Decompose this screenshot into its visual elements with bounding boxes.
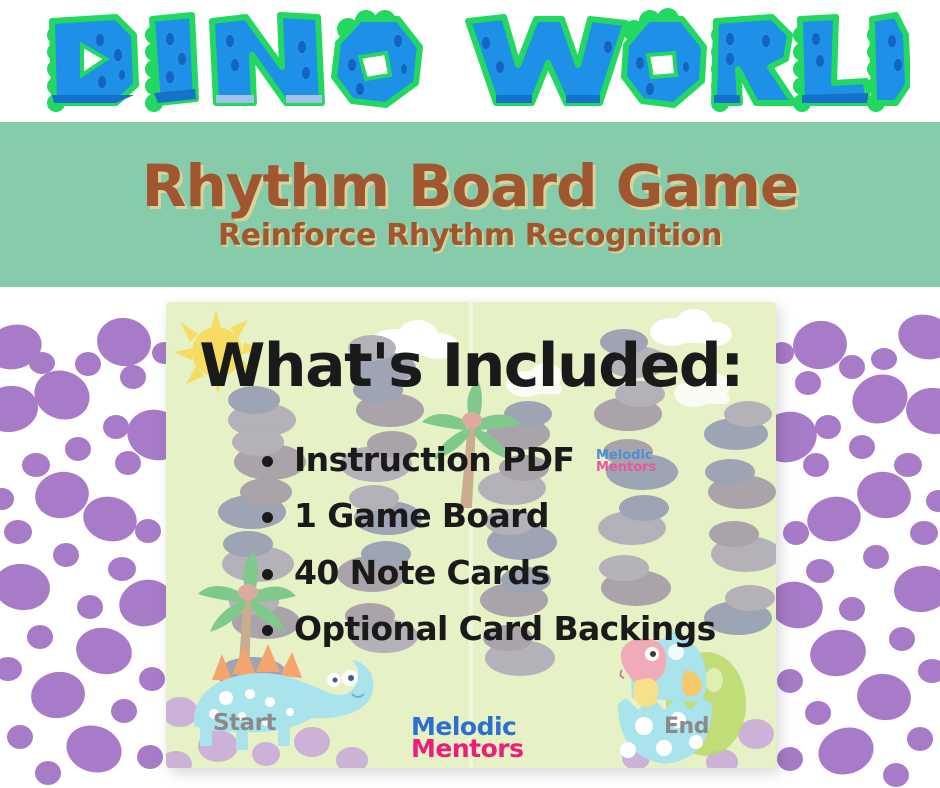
title-letter-o-1	[334, 10, 420, 105]
title-letter-l	[793, 17, 868, 112]
melodic-mentors-logo: Melodic Mentors	[411, 716, 523, 759]
list-item: 1 Game Board	[258, 498, 758, 534]
title-letter-i	[145, 15, 196, 112]
banner-title: Rhythm Board Game	[142, 156, 798, 217]
end-label: End	[664, 714, 709, 739]
title-letter-d-2	[867, 15, 908, 112]
subtitle-banner: Rhythm Board Game Reinforce Rhythm Recog…	[0, 122, 940, 287]
title-letter-o-2	[623, 8, 704, 105]
list-item: Optional Card Backings	[258, 611, 758, 647]
list-item: 40 Note Cards	[258, 555, 758, 591]
page-title: What's Included:	[166, 336, 776, 396]
title-letter-d-1	[47, 17, 136, 112]
included-items-list: Instruction PDF 1 Game Board 40 Note Car…	[258, 442, 758, 667]
card-content: What's Included: Instruction PDF 1 Game …	[166, 302, 776, 768]
logo-line2: Mentors	[411, 738, 523, 760]
watermark-small: Melodic Mentors	[596, 450, 656, 474]
whats-included-card: What's Included: Instruction PDF 1 Game …	[166, 302, 776, 768]
start-label: Start	[213, 710, 276, 736]
banner-subtitle: Reinforce Rhythm Recognition	[218, 218, 722, 253]
title-letter-w	[468, 17, 626, 103]
list-item: Instruction PDF	[258, 442, 758, 478]
title-letter-r	[711, 17, 794, 112]
title-letter-n	[212, 15, 322, 103]
dino-world-title	[30, 7, 910, 115]
watermark-small-line2: Mentors	[596, 462, 656, 474]
title-band	[0, 0, 940, 122]
